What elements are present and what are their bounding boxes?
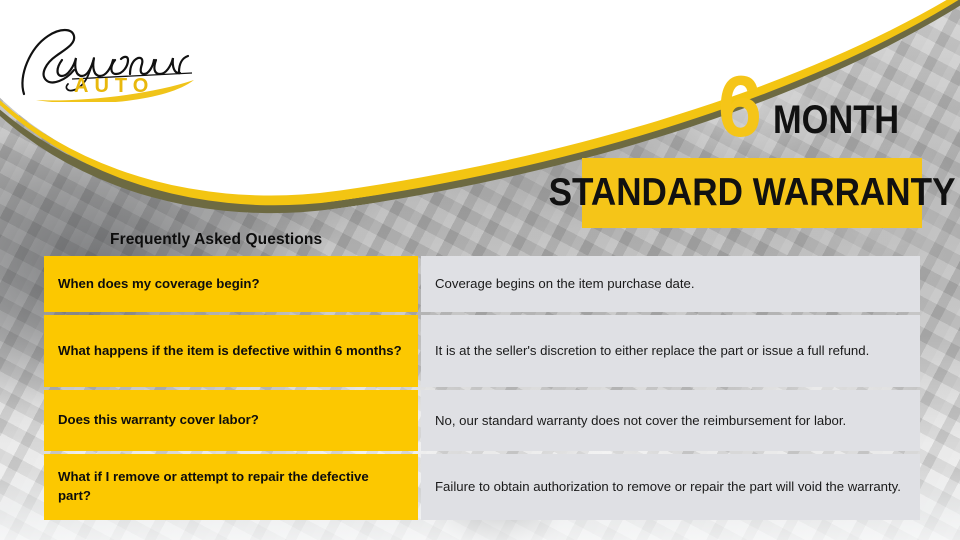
faq-question: When does my coverage begin? bbox=[44, 256, 418, 312]
warranty-number: 6 bbox=[717, 70, 759, 146]
table-row: What if I remove or attempt to repair th… bbox=[44, 454, 920, 520]
faq-answer: It is at the seller's discretion to eith… bbox=[421, 315, 920, 387]
table-row: Does this warranty cover labor? No, our … bbox=[44, 390, 920, 451]
faq-question: What happens if the item is defective wi… bbox=[44, 315, 418, 387]
warranty-headline-block: 6 MONTH STANDARD WARRANTY bbox=[582, 58, 922, 228]
faq-answer-text: Coverage begins on the item purchase dat… bbox=[435, 274, 906, 293]
faq-question: Does this warranty cover labor? bbox=[44, 390, 418, 451]
standard-warranty-banner: STANDARD WARRANTY bbox=[582, 158, 922, 228]
faq-heading: Frequently Asked Questions bbox=[110, 231, 322, 249]
faq-question: What if I remove or attempt to repair th… bbox=[44, 454, 418, 520]
warranty-duration: 6 MONTH bbox=[582, 58, 922, 146]
logo-artwork: AUTO bbox=[16, 16, 206, 102]
table-row: What happens if the item is defective wi… bbox=[44, 315, 920, 387]
warranty-period-label: MONTH bbox=[773, 100, 899, 146]
faq-answer: Failure to obtain authorization to remov… bbox=[421, 454, 920, 520]
faq-answer-text: It is at the seller's discretion to eith… bbox=[435, 341, 906, 360]
faq-table: When does my coverage begin? Coverage be… bbox=[44, 256, 920, 520]
table-row: When does my coverage begin? Coverage be… bbox=[44, 256, 920, 312]
faq-answer: Coverage begins on the item purchase dat… bbox=[421, 256, 920, 312]
warranty-slide: AUTO 6 MONTH STANDARD WARRANTY Frequentl… bbox=[0, 0, 960, 540]
faq-answer: No, our standard warranty does not cover… bbox=[421, 390, 920, 451]
standard-warranty-text: STANDARD WARRANTY bbox=[549, 171, 956, 215]
faq-answer-text: Failure to obtain authorization to remov… bbox=[435, 477, 906, 496]
seymour-auto-logo[interactable]: AUTO bbox=[16, 16, 206, 102]
faq-answer-text: No, our standard warranty does not cover… bbox=[435, 411, 906, 430]
